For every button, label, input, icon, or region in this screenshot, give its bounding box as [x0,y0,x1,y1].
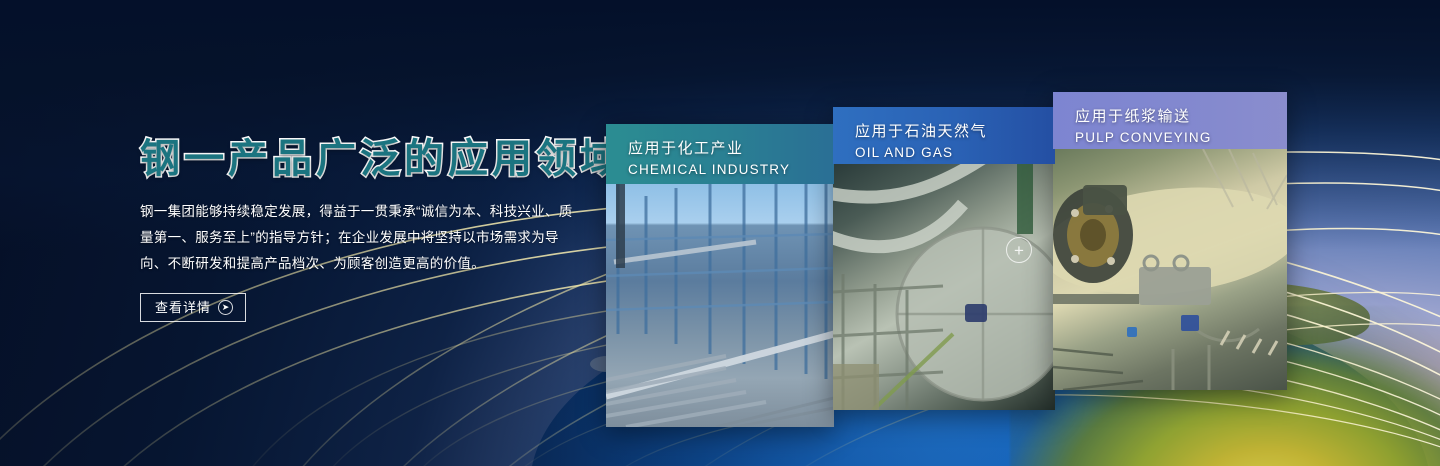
card-title-en: CHEMICAL INDUSTRY [628,160,834,180]
card-title-en: PULP CONVEYING [1075,128,1287,148]
card-title-cn: 应用于纸浆输送 [1075,106,1287,128]
card-title-cn: 应用于石油天然气 [855,121,1055,143]
hero-copy-block: 钢一产品广泛的应用领域 钢一集团能够持续稳定发展，得益于一贯秉承“诚信为本、科技… [140,136,600,322]
card-title-en: OIL AND GAS [855,143,1055,163]
photo-detail-lines [1053,149,1287,390]
plus-icon[interactable]: + [1006,237,1032,263]
photo-detail-lines [833,164,1055,410]
chevron-right-circle-icon: ➤ [218,300,233,315]
photo-detail-lines [606,184,834,427]
hero-description: 钢一集团能够持续稳定发展，得益于一贯秉承“诚信为本、科技兴业、质量第一、服务至上… [140,199,584,277]
card-caption: 应用于纸浆输送 PULP CONVEYING [1053,92,1287,149]
application-card-pulp-conveying[interactable]: 应用于纸浆输送 PULP CONVEYING [1053,92,1287,390]
page-title: 钢一产品广泛的应用领域 [140,136,600,183]
hero-banner: 钢一产品广泛的应用领域 钢一集团能够持续稳定发展，得益于一贯秉承“诚信为本、科技… [0,0,1440,466]
card-caption: 应用于石油天然气 OIL AND GAS [833,107,1055,164]
view-details-button[interactable]: 查看详情 ➤ [140,293,246,322]
view-details-label: 查看详情 [155,301,211,314]
chemical-plant-photo [606,184,834,427]
paper-mill-roller-photo [1053,149,1287,390]
application-card-oil-and-gas[interactable]: + 应用于石油天然气 OIL AND GAS [833,107,1055,410]
application-card-chemical[interactable]: 应用于化工产业 CHEMICAL INDUSTRY [606,124,834,427]
card-caption: 应用于化工产业 CHEMICAL INDUSTRY [606,124,834,184]
oil-and-gas-facility-photo [833,164,1055,410]
card-title-cn: 应用于化工产业 [628,138,834,160]
